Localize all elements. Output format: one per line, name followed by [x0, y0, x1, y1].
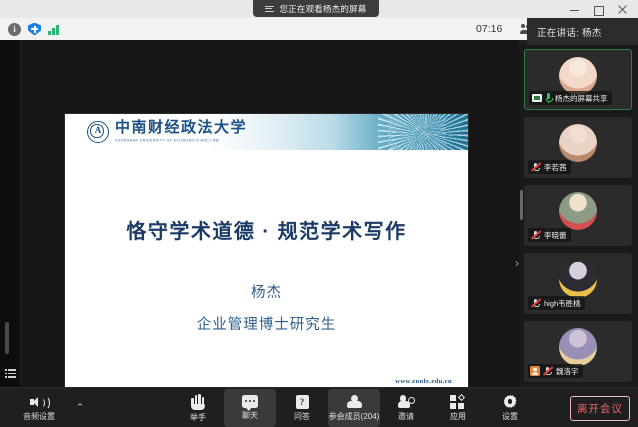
toolbar-item-label: 参会成员(204) [329, 411, 380, 422]
minimize-button[interactable] [569, 4, 580, 15]
title-bar: 您正在观看杨杰的屏幕 [0, 0, 638, 18]
maximize-button[interactable] [593, 4, 604, 15]
avatar [559, 124, 597, 162]
stage-scrollbar[interactable] [5, 322, 9, 354]
list-icon [265, 5, 274, 13]
toolbar-item-label: 邀请 [398, 411, 414, 422]
participant-name: 杨杰的屏幕共享 [555, 93, 608, 104]
info-bar-left-icons: i [0, 23, 62, 36]
toolbar-item-hand[interactable]: 举手 [172, 389, 224, 427]
meeting-window: 您正在观看杨杰的屏幕 i 07:16 214人看过 演 正在讲话: 杨杰 [0, 0, 638, 427]
shared-screen-stage: 中南财经政法大学 ZHONGNAN UNIVERSITY OF ECONOMIC… [0, 40, 519, 387]
participant-name: 魏洛宇 [556, 366, 579, 377]
toolbar-item-label: 举手 [190, 412, 206, 423]
audio-settings-chevron-up-icon[interactable]: ⌃ [75, 402, 85, 412]
participant-panel-scrollbar[interactable] [520, 190, 523, 220]
slide-title: 恪守学术道德 · 规范学术写作 [65, 215, 468, 244]
toolbar-item-invite[interactable]: 邀请 [380, 389, 432, 427]
toolbar-item-apps[interactable]: 应用 [432, 389, 484, 427]
toolbar-item-label: 问答 [294, 411, 310, 422]
avatar [559, 192, 597, 230]
info-icon[interactable]: i [8, 23, 21, 36]
slide-header-band: 中南财经政法大学 ZHONGNAN UNIVERSITY OF ECONOMIC… [65, 114, 468, 150]
leave-meeting-button[interactable]: 离开会议 [570, 396, 630, 421]
participant-tile[interactable]: 李若茜 [524, 117, 632, 178]
avatar [559, 328, 597, 366]
speaker-icon [30, 396, 48, 409]
avatar [559, 260, 597, 298]
university-logo: 中南财经政法大学 ZHONGNAN UNIVERSITY OF ECONOMIC… [87, 121, 247, 143]
audio-settings-label: 音频设置 [23, 411, 55, 422]
participant-tile[interactable]: 李晓蕾 [524, 185, 632, 246]
left-rail [0, 40, 19, 387]
microphone-muted-icon [543, 366, 553, 376]
university-name-en: ZHONGNAN UNIVERSITY OF ECONOMICS AND LAW [115, 139, 247, 143]
meeting-timer: 07:16 [466, 18, 510, 40]
leave-meeting-label: 离开会议 [577, 401, 623, 416]
toolbar-item-label: 设置 [502, 411, 518, 422]
participants-icon [346, 395, 363, 409]
invite-icon [398, 395, 415, 409]
participant-badge: 李若茜 [528, 160, 571, 174]
toolbar-item-participants[interactable]: 参会成员(204) [328, 389, 380, 427]
hand-icon [191, 394, 206, 410]
active-speaker-label: 正在讲话: 杨杰 [537, 25, 602, 39]
slide-url: www.znufe.edu.cn [395, 378, 452, 385]
slide-presenter-role: 企业管理博士研究生 [65, 313, 468, 334]
participant-tile[interactable]: 杨杰的屏幕共享 [524, 49, 632, 110]
university-seal-icon [87, 121, 109, 143]
participant-badge: 杨杰的屏幕共享 [529, 91, 612, 105]
screen-share-tooltip-label: 您正在观看杨杰的屏幕 [279, 3, 366, 15]
participant-tile[interactable]: 魏洛宇 [524, 321, 632, 382]
participant-panel: 杨杰的屏幕共享李若茜李晓蕾high韦胜桃魏洛宇 [519, 45, 638, 387]
bottom-toolbar: 音频设置 ⌃ 举手聊天?问答参会成员(204)邀请应用设置 离开会议 [0, 387, 638, 427]
participant-name: high韦胜桃 [544, 298, 581, 309]
microphone-muted-icon [531, 162, 541, 172]
starburst-decoration-small-icon [388, 114, 446, 150]
toolbar-item-gear[interactable]: 设置 [484, 389, 536, 427]
shield-icon[interactable] [28, 23, 41, 36]
qa-icon: ? [296, 395, 309, 409]
toolbar-item-label: 聊天 [242, 410, 258, 421]
apps-icon [450, 395, 466, 409]
close-button[interactable] [617, 4, 628, 15]
participant-name: 李晓蕾 [544, 230, 567, 241]
signal-icon[interactable] [48, 23, 62, 35]
audio-settings-button[interactable]: 音频设置 [8, 392, 70, 425]
window-controls [569, 0, 634, 18]
screen-share-icon [532, 94, 542, 102]
annotation-menu-icon[interactable] [5, 369, 16, 378]
microphone-muted-icon [531, 298, 541, 308]
participant-name: 李若茜 [544, 162, 567, 173]
active-speaker-banner: 正在讲话: 杨杰 [527, 18, 638, 45]
gear-icon [503, 394, 518, 409]
chat-icon [242, 395, 258, 408]
presentation-slide: 中南财经政法大学 ZHONGNAN UNIVERSITY OF ECONOMIC… [65, 114, 468, 411]
university-name-cn: 中南财经政法大学 [115, 121, 247, 136]
participant-badge: high韦胜桃 [528, 296, 585, 310]
toolbar-item-label: 应用 [450, 411, 466, 422]
slide-presenter: 杨杰 [65, 281, 468, 302]
host-icon [530, 366, 540, 376]
microphone-on-icon [545, 93, 552, 103]
participant-badge: 魏洛宇 [528, 364, 583, 378]
avatar [559, 57, 597, 95]
toolbar-item-qa[interactable]: ?问答 [276, 389, 328, 427]
participant-badge: 李晓蕾 [528, 228, 571, 242]
toolbar-item-chat[interactable]: 聊天 [224, 389, 276, 427]
participant-tile[interactable]: high韦胜桃 [524, 253, 632, 314]
microphone-muted-icon [531, 230, 541, 240]
toolbar-items: 举手聊天?问答参会成员(204)邀请应用设置 [172, 390, 472, 426]
screen-share-tooltip[interactable]: 您正在观看杨杰的屏幕 [253, 0, 379, 17]
